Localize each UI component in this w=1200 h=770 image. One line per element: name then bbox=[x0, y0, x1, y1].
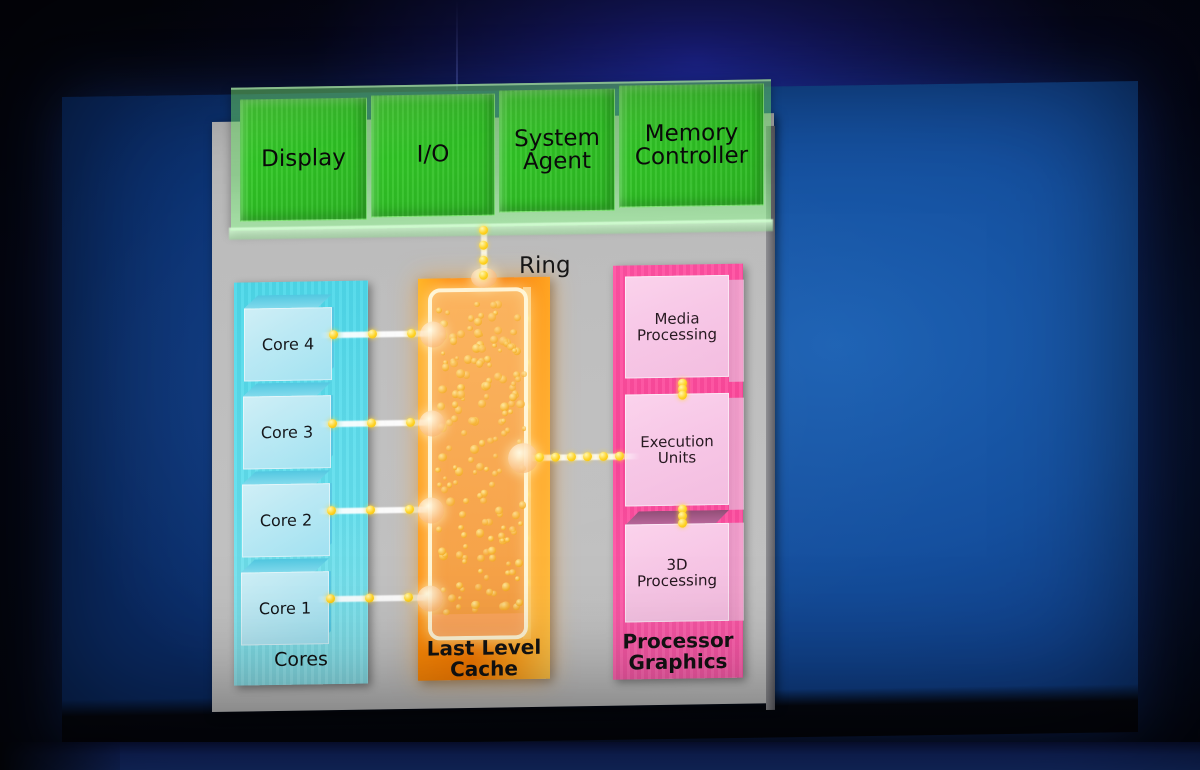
cache-cell-dot bbox=[506, 561, 511, 566]
cache-cell-dot bbox=[441, 351, 445, 355]
uncore-block-memory-controller-label-line2: Controller bbox=[635, 145, 748, 170]
cache-cell-dot bbox=[488, 313, 497, 322]
uncore-block-io-label: I/O bbox=[417, 144, 450, 168]
cache-cell-dot bbox=[487, 363, 492, 368]
cache-cell-dot bbox=[456, 551, 463, 558]
cache-cell-dot bbox=[501, 418, 506, 423]
cache-cell-dot bbox=[471, 601, 479, 609]
cache-cell-dot bbox=[514, 314, 521, 321]
cache-cell-dot bbox=[452, 401, 458, 407]
uncore-block-system-agent-label-line2: Agent bbox=[523, 150, 591, 175]
cache-cell-dot bbox=[451, 415, 458, 422]
cache-cell-dot bbox=[484, 575, 489, 580]
cache-cell-dot bbox=[516, 400, 524, 408]
cache-inner-bottom-band bbox=[432, 613, 524, 636]
cache-cell-dot bbox=[437, 403, 445, 411]
cache-cell-dot bbox=[462, 559, 467, 564]
cache-cell-dot bbox=[476, 360, 483, 367]
cache-cell-dot bbox=[438, 453, 447, 462]
cache-cell-dot bbox=[473, 470, 478, 475]
cache-cell-dot bbox=[502, 410, 508, 416]
uncore-block-memory-controller[interactable]: Memory Controller bbox=[619, 83, 764, 207]
cache-cell-dot bbox=[519, 501, 527, 509]
cache-cell-dot bbox=[455, 356, 459, 360]
cache-cell-dot bbox=[521, 371, 527, 377]
cache-cell-dot bbox=[510, 329, 517, 336]
execution-units-block[interactable]: Execution Units bbox=[625, 393, 729, 507]
cache-cell-dot bbox=[515, 576, 520, 581]
cache-cell-dot bbox=[446, 445, 452, 451]
cache-cell-dot bbox=[515, 376, 521, 382]
cache-cell-dot bbox=[438, 385, 447, 394]
uncore-block-display[interactable]: Display bbox=[240, 98, 367, 222]
cache-cell-dot bbox=[488, 536, 494, 542]
media-processing-side-face bbox=[729, 280, 744, 382]
processor-graphics-label-line2: Graphics bbox=[629, 649, 728, 675]
cache-cell-dot bbox=[475, 584, 481, 591]
cache-cell-dot bbox=[478, 345, 486, 353]
cache-cell-dot bbox=[479, 440, 485, 447]
3d-processing-block[interactable]: 3D Processing bbox=[625, 523, 729, 623]
uncore-block-io[interactable]: I/O bbox=[371, 94, 495, 218]
last-level-cache-label: Last Level Cache bbox=[408, 637, 560, 681]
cache-cell-dot bbox=[477, 555, 485, 563]
cache-cell-dot bbox=[518, 521, 523, 526]
last-level-cache-label-line2: Cache bbox=[450, 656, 518, 681]
cache-cell-dot bbox=[493, 437, 498, 442]
cache-cell-dot bbox=[484, 467, 489, 472]
cores-group-label: Cores bbox=[234, 648, 368, 672]
cache-cell-dot bbox=[484, 394, 489, 400]
cache-cell-dot bbox=[448, 594, 456, 602]
execution-units-label-line1: Execution bbox=[640, 433, 714, 450]
cache-cell-dot bbox=[498, 348, 502, 352]
cache-cell-dot bbox=[446, 497, 455, 506]
cache-cell-dot bbox=[481, 490, 488, 497]
cache-cell-dot bbox=[458, 596, 462, 600]
core-2-label: Core 2 bbox=[260, 510, 312, 530]
cache-cell-dot bbox=[478, 569, 484, 575]
cache-cell-dot bbox=[490, 336, 498, 344]
cache-cell-dot bbox=[468, 457, 475, 464]
cache-cell-dot bbox=[463, 498, 469, 504]
cache-cell-dot bbox=[474, 302, 479, 307]
cache-cell-dot bbox=[453, 466, 457, 470]
cache-cell-dot bbox=[436, 527, 442, 533]
cache-cell-dot bbox=[443, 609, 450, 616]
cache-cell-dot bbox=[436, 307, 443, 314]
cache-cell-dot bbox=[450, 337, 457, 344]
cache-cell-dot bbox=[455, 407, 463, 415]
core-4[interactable]: Core 4 bbox=[244, 307, 332, 381]
cache-cell-dot bbox=[493, 454, 498, 459]
core-3-label: Core 3 bbox=[261, 422, 313, 442]
cache-cell-dot bbox=[489, 482, 495, 488]
cache-cell-dot bbox=[445, 310, 450, 315]
processor-graphics-group-label: Processor Graphics bbox=[606, 630, 750, 674]
cache-cell-dot bbox=[435, 467, 440, 472]
uncore-block-system-agent[interactable]: System Agent bbox=[499, 89, 615, 213]
cache-cell-dot bbox=[502, 583, 510, 591]
cache-cell-dot bbox=[476, 463, 484, 471]
cache-cell-dot bbox=[489, 555, 495, 561]
cache-cell-dot bbox=[516, 599, 522, 605]
cache-cell-dot bbox=[482, 519, 489, 526]
3d-processing-side-face bbox=[729, 523, 744, 621]
cache-cell-dot bbox=[467, 326, 472, 331]
cache-cell-dot bbox=[478, 400, 486, 408]
cache-cell-dot bbox=[450, 360, 457, 367]
cache-cell-dot bbox=[509, 393, 517, 401]
cache-cell-dot bbox=[483, 381, 491, 389]
3d-processing-label-line2: Processing bbox=[637, 572, 717, 589]
cache-cell-dot bbox=[470, 445, 479, 454]
cache-cell-dot bbox=[501, 601, 510, 610]
cache-cell-dot bbox=[515, 560, 523, 568]
cache-cell-dot bbox=[508, 410, 513, 415]
media-processing-block[interactable]: Media Processing bbox=[625, 275, 729, 379]
cache-cell-dot bbox=[461, 532, 467, 538]
cache-cell-dot bbox=[441, 588, 446, 593]
cache-cell-dot bbox=[442, 364, 449, 371]
3d-processing-label-line1: 3D bbox=[666, 556, 687, 573]
core-1[interactable]: Core 1 bbox=[241, 571, 329, 645]
cache-cell-dot bbox=[505, 538, 509, 542]
cache-cell-dot bbox=[476, 529, 485, 538]
cache-cell-dot bbox=[443, 476, 447, 480]
execution-units-label-line2: Units bbox=[658, 449, 696, 466]
uncore-block-display-label: Display bbox=[261, 147, 346, 172]
cache-cell-dot bbox=[501, 431, 506, 436]
cache-cell-dot bbox=[461, 430, 467, 436]
cache-cell-dot bbox=[488, 546, 496, 554]
cache-cell-dot bbox=[453, 480, 458, 485]
cache-cell-dot bbox=[459, 511, 466, 518]
cache-cell-dot bbox=[522, 426, 526, 430]
cache-cell-dot bbox=[509, 569, 515, 575]
ring-label: Ring bbox=[519, 252, 571, 279]
cache-cell-dot bbox=[468, 315, 474, 321]
core-3[interactable]: Core 3 bbox=[243, 395, 331, 469]
cache-cell-dot bbox=[441, 486, 448, 493]
execution-units-side-face bbox=[729, 398, 744, 510]
cache-cell-dot bbox=[457, 330, 465, 338]
cache-cell-dot bbox=[458, 525, 463, 530]
die-diagram-stage: Display I/O System Agent Memory Controll… bbox=[0, 0, 1200, 770]
cache-cell-dot bbox=[492, 343, 497, 348]
cache-cell-dot bbox=[494, 327, 502, 335]
cache-cell-dot bbox=[512, 511, 520, 519]
cache-cell-dot bbox=[456, 604, 462, 610]
cache-cell-dot bbox=[463, 544, 468, 549]
cache-cell-dot bbox=[500, 538, 505, 543]
cache-cell-dot bbox=[492, 471, 498, 477]
core-4-label: Core 4 bbox=[262, 334, 314, 354]
cache-cell-dot bbox=[474, 318, 482, 326]
media-processing-label-line2: Processing bbox=[637, 326, 717, 343]
core-1-label: Core 1 bbox=[259, 598, 311, 618]
core-2[interactable]: Core 2 bbox=[242, 483, 330, 557]
cache-cell-dot bbox=[501, 525, 506, 530]
